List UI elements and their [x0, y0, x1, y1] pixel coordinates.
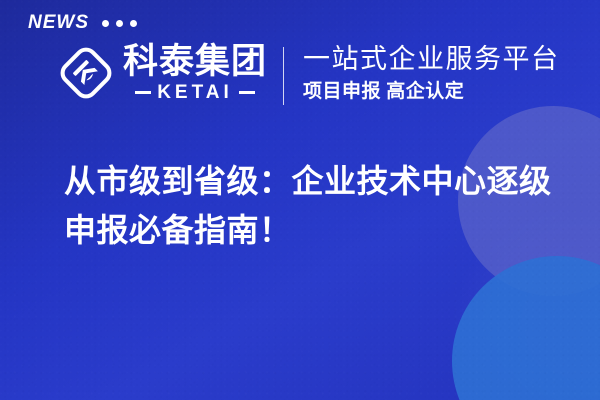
tagline-sub: 项目申报 高企认定 — [303, 81, 560, 104]
news-dots-icon — [102, 20, 137, 27]
ketai-diamond-monogram-icon — [55, 42, 117, 104]
brand-name-en: KETAI — [157, 83, 233, 102]
eyebrow-news: NEWS — [28, 13, 137, 32]
news-label: NEWS — [28, 13, 89, 32]
tagline-main: 一站式企业服务平台 — [303, 44, 560, 76]
brand-rule-right — [239, 91, 255, 94]
headline-line-2: 申报必备指南！ — [64, 206, 584, 255]
brand-rule-left — [135, 91, 151, 94]
decorative-circle-front — [452, 256, 600, 400]
brand-lockup: 科泰集团 KETAI — [55, 42, 267, 104]
news-banner: NEWS 科泰集团 KETAI — [0, 0, 600, 400]
brand-names: 科泰集团 KETAI — [123, 44, 267, 102]
page-title: 从市级到省级：企业技术中心逐级 申报必备指南！ — [64, 157, 584, 255]
tagline-block: 一站式企业服务平台 项目申报 高企认定 — [303, 44, 560, 104]
headline-line-1: 从市级到省级：企业技术中心逐级 — [64, 157, 584, 206]
brand-divider — [283, 47, 284, 105]
brand-name-en-row: KETAI — [123, 83, 267, 102]
brand-name-cn: 科泰集团 — [123, 44, 267, 80]
